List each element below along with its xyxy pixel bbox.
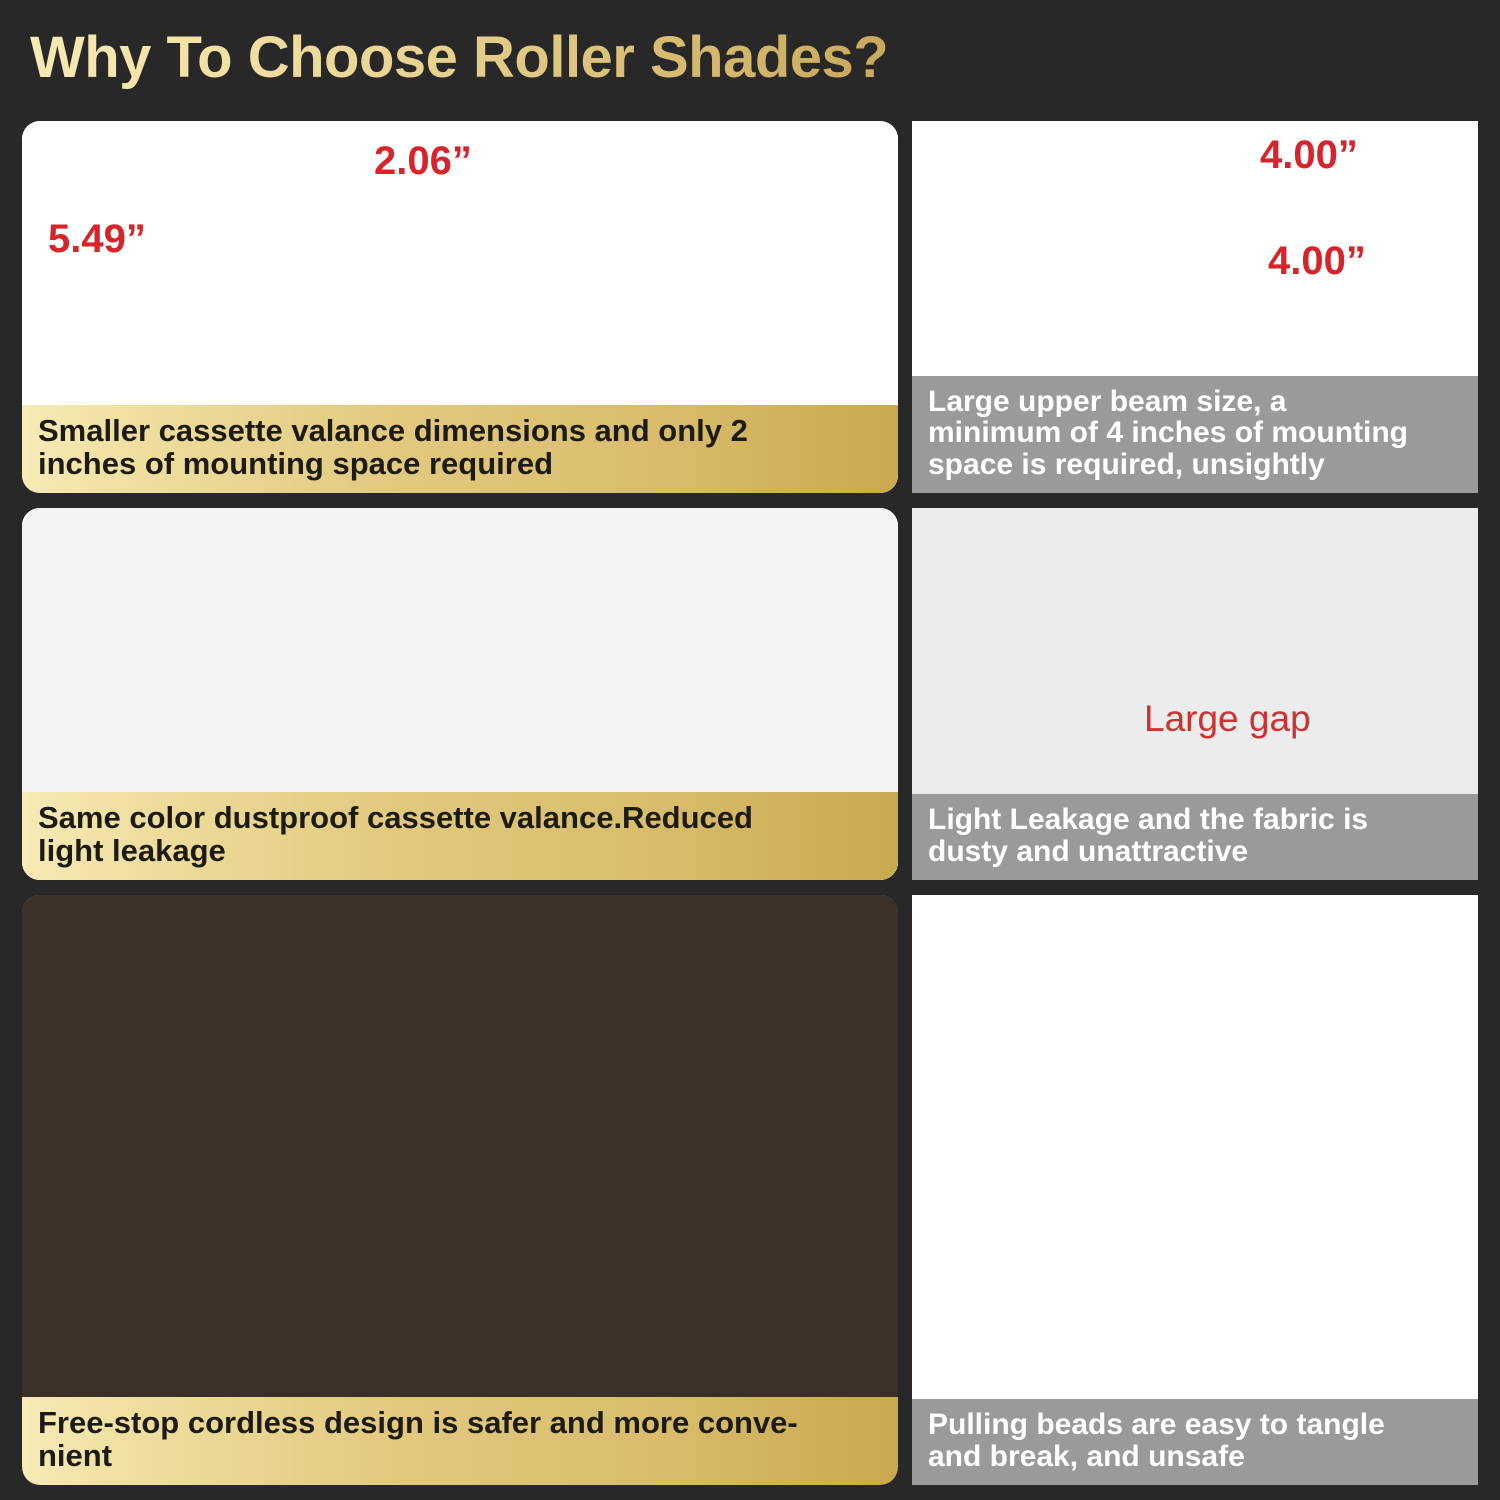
caption-line: light leakage bbox=[38, 835, 884, 868]
caption-line: nient bbox=[38, 1440, 884, 1473]
panel-cassette-valance: 2.06” 5.49” Smaller cassette valance dim… bbox=[22, 121, 898, 493]
caption-large-upper-beam: Large upper beam size, a minimum of 4 in… bbox=[912, 376, 1478, 493]
caption-cassette-valance: Smaller cassette valance dimensions and … bbox=[22, 405, 898, 493]
caption-line: and break, and unsafe bbox=[928, 1441, 1464, 1473]
large-gap-label: Large gap bbox=[1144, 698, 1311, 740]
panel-grid: 2.06” 5.49” Smaller cassette valance dim… bbox=[0, 113, 1500, 1493]
panel-large-upper-beam: 4.00” 4.00” Large upper beam size, a min… bbox=[912, 121, 1478, 493]
caption-pulling-beads: Pulling beads are easy to tangle and bre… bbox=[912, 1399, 1478, 1485]
caption-line: Large upper beam size, a bbox=[928, 386, 1464, 418]
caption-dustproof-cassette: Same color dustproof cassette valance.Re… bbox=[22, 792, 898, 880]
caption-free-stop-cordless: Free-stop cordless design is safer and m… bbox=[22, 1397, 898, 1485]
beam-height-dimension-label: 4.00” bbox=[1268, 239, 1366, 284]
height-dimension-label: 5.49” bbox=[48, 217, 146, 262]
caption-line: Pulling beads are easy to tangle bbox=[928, 1409, 1464, 1441]
page-title: Why To Choose Roller Shades? bbox=[30, 24, 888, 91]
caption-line: minimum of 4 inches of mounting bbox=[928, 417, 1464, 449]
caption-line: space is required, unsightly bbox=[928, 449, 1464, 481]
caption-line: Light Leakage and the fabric is bbox=[928, 804, 1464, 836]
caption-line: Smaller cassette valance dimensions and … bbox=[38, 415, 884, 448]
caption-line: dusty and unattractive bbox=[928, 836, 1464, 868]
panel-dustproof-cassette: smaller gap Same color dustproof cassett… bbox=[22, 508, 898, 880]
caption-light-leakage: Light Leakage and the fabric is dusty an… bbox=[912, 794, 1478, 880]
caption-line: Same color dustproof cassette valance.Re… bbox=[38, 802, 884, 835]
width-dimension-label: 2.06” bbox=[374, 139, 472, 184]
caption-line: inches of mounting space required bbox=[38, 448, 884, 481]
pulling-beads-image bbox=[912, 895, 1478, 1485]
beam-width-dimension-label: 4.00” bbox=[1260, 133, 1358, 178]
panel-light-leakage: Large gap Light Leakage and the fabric i… bbox=[912, 508, 1478, 880]
infographic-page: Why To Choose Roller Shades? bbox=[0, 0, 1500, 1500]
panel-pulling-beads: Pulling beads are easy to tangle and bre… bbox=[912, 895, 1478, 1485]
caption-line: Free-stop cordless design is safer and m… bbox=[38, 1407, 884, 1440]
panel-free-stop-cordless: Free-stop cordless design is safer and m… bbox=[22, 895, 898, 1485]
